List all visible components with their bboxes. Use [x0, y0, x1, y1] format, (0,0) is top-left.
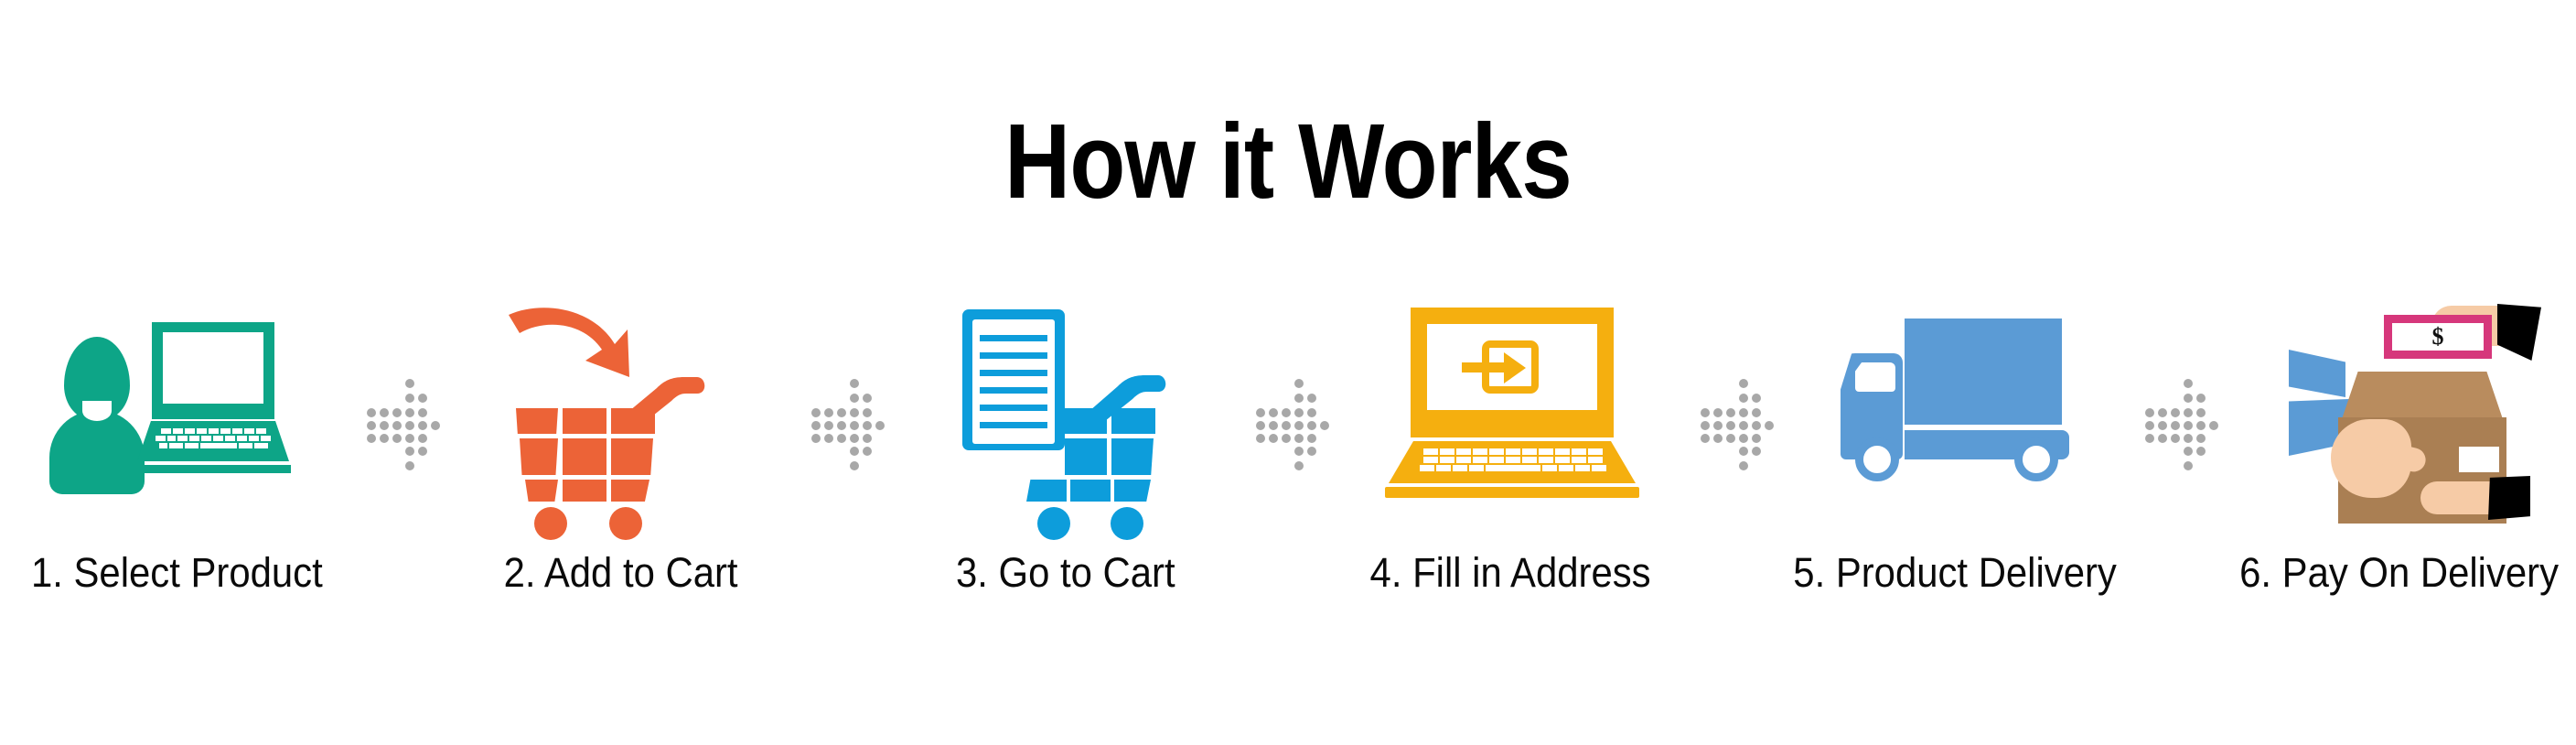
cart-cell	[1063, 408, 1107, 434]
separator-5	[2138, 302, 2216, 531]
step-4-icon-box	[1359, 302, 1661, 531]
step-6-pay-on-delivery[interactable]: $ 6. Pay On Delivery	[2216, 302, 2576, 594]
how-it-works-steps: 1. Select Product	[0, 302, 2576, 668]
right-sleeve-cuff-lower	[2488, 476, 2530, 520]
step-3-label: 3. Go to Cart	[956, 551, 1175, 594]
separator-2	[804, 302, 883, 531]
cart-cell	[525, 480, 558, 502]
person-body-shape	[49, 410, 145, 494]
step-2-add-to-cart[interactable]: 2. Add to Cart	[438, 302, 804, 594]
truck-wheel-front	[1855, 437, 1899, 481]
step-3-icon-box	[915, 302, 1217, 531]
cart-cell	[516, 408, 558, 434]
cart-wheel	[1037, 507, 1070, 540]
step-5-product-delivery[interactable]: 5. Product Delivery	[1772, 302, 2138, 594]
step-5-label: 5. Product Delivery	[1793, 551, 2117, 594]
step-2-icon-box	[470, 302, 772, 531]
step-1-select-product[interactable]: 1. Select Product	[0, 302, 360, 594]
parcel-box-lid	[2342, 372, 2503, 419]
step-4-label: 4. Fill in Address	[1369, 551, 1650, 594]
left-sleeve-upper	[2289, 350, 2345, 397]
page-title: How it Works	[180, 108, 2396, 214]
laptop-screen-inner	[163, 332, 263, 404]
cart-cell	[1026, 480, 1067, 502]
person-with-laptop-icon	[49, 302, 351, 531]
step-6-icon-box: $	[2249, 302, 2550, 531]
cart-cell	[611, 408, 655, 434]
cart-wheel	[1111, 507, 1143, 540]
document-text-line	[980, 335, 1047, 341]
dotted-arrow-right-icon	[1699, 379, 1770, 447]
laptop-keys	[1420, 448, 1606, 471]
document-text-line	[980, 370, 1047, 376]
document-text-line	[980, 387, 1047, 394]
dotted-arrow-right-icon	[810, 379, 881, 447]
cart-wheel	[534, 507, 567, 540]
step-1-icon-box	[26, 302, 327, 531]
document-with-cart-icon	[957, 302, 1259, 531]
step-2-label: 2. Add to Cart	[504, 551, 738, 594]
step-3-go-to-cart[interactable]: 3. Go to Cart	[883, 302, 1249, 594]
right-sleeve-cuff-upper	[2497, 304, 2541, 361]
truck-cargo-box	[1905, 319, 2062, 425]
cart-cell	[563, 480, 606, 502]
cart-cell	[1111, 438, 1154, 475]
login-arrow-head	[1504, 352, 1526, 383]
laptop-base-bar	[1385, 487, 1639, 498]
separator-4	[1693, 302, 1772, 531]
cart-cell	[1111, 408, 1155, 434]
laptop-login-icon	[1379, 302, 1681, 531]
parcel-shipping-label	[2459, 447, 2499, 472]
truck-wheel-rear	[2014, 437, 2058, 481]
delivery-truck-icon	[1835, 302, 2137, 531]
laptop-base-bar	[135, 465, 291, 473]
cart-cell	[611, 438, 653, 475]
cart-cell	[1114, 480, 1151, 502]
laptop-keys	[156, 428, 271, 448]
dotted-arrow-right-icon	[1254, 379, 1326, 447]
laptop-keyboard-deck	[137, 421, 289, 461]
cart-cell	[520, 438, 558, 475]
separator-1	[360, 302, 438, 531]
truck-window	[1855, 362, 1895, 392]
cart-cell	[563, 408, 606, 434]
cart-wheel	[609, 507, 642, 540]
step-1-label: 1. Select Product	[31, 551, 323, 594]
document-text-line	[980, 405, 1047, 411]
arrow-into-cart-icon	[503, 302, 805, 531]
cart-cell	[1065, 438, 1107, 475]
step-6-label: 6. Pay On Delivery	[2240, 551, 2560, 594]
dotted-arrow-right-icon	[365, 379, 436, 447]
cart-cell	[1070, 480, 1111, 502]
document-text-line	[980, 352, 1047, 359]
laptop-keyboard-deck	[1389, 441, 1636, 483]
person-neck-notch	[82, 401, 112, 421]
separator-3	[1249, 302, 1327, 531]
dotted-arrow-right-icon	[2143, 379, 2215, 447]
hands-exchange-box-money-icon: $	[2289, 302, 2576, 531]
document-text-line	[980, 422, 1047, 428]
step-5-icon-box	[1804, 302, 2106, 531]
step-4-fill-in-address[interactable]: 4. Fill in Address	[1327, 302, 1693, 594]
cart-cell	[611, 480, 649, 502]
dollar-sign-icon: $	[2384, 315, 2492, 359]
cart-cell	[563, 438, 606, 475]
